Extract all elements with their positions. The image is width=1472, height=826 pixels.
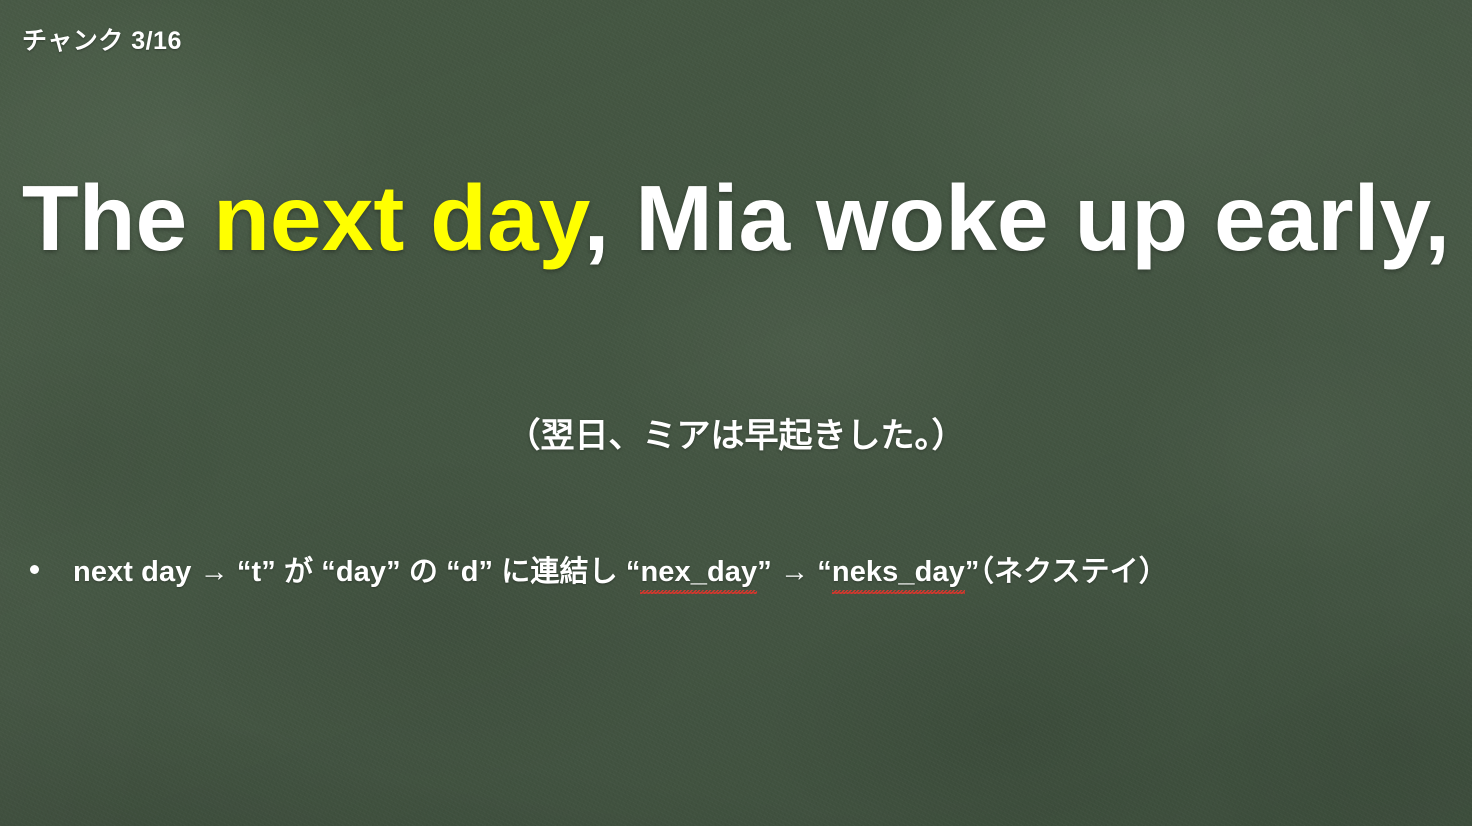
misspelled-word-neks-day: neks_day: [832, 556, 965, 589]
slide-content: チャンク 3/16 The next day, Mia woke up earl…: [0, 0, 1472, 826]
pronunciation-note-text: next day → “t” が “day” の “d” に連結し “nex_d…: [73, 548, 1168, 590]
note-segment-2: ” → “: [757, 556, 832, 588]
chalkboard-slide: チャンク 3/16 The next day, Mia woke up earl…: [0, 0, 1472, 826]
english-sentence: The next day, Mia woke up early,: [0, 170, 1472, 268]
note-segment-3: ”（ネクステイ）: [965, 556, 1168, 588]
sentence-highlighted-phrase: next day: [213, 166, 583, 270]
japanese-translation: （翌日、ミアは早起きした。）: [0, 408, 1472, 457]
sentence-text-before: The: [22, 166, 213, 270]
chunk-counter-label: チャンク 3/16: [22, 21, 182, 57]
sentence-text-after: , Mia woke up early,: [584, 166, 1451, 270]
bullet-point-icon: [30, 565, 39, 574]
misspelled-word-nex-day: nex_day: [640, 556, 757, 589]
pronunciation-note-row: next day → “t” が “day” の “d” に連結し “nex_d…: [30, 548, 1168, 590]
note-segment-1: next day → “t” が “day” の “d” に連結し “: [73, 556, 640, 588]
